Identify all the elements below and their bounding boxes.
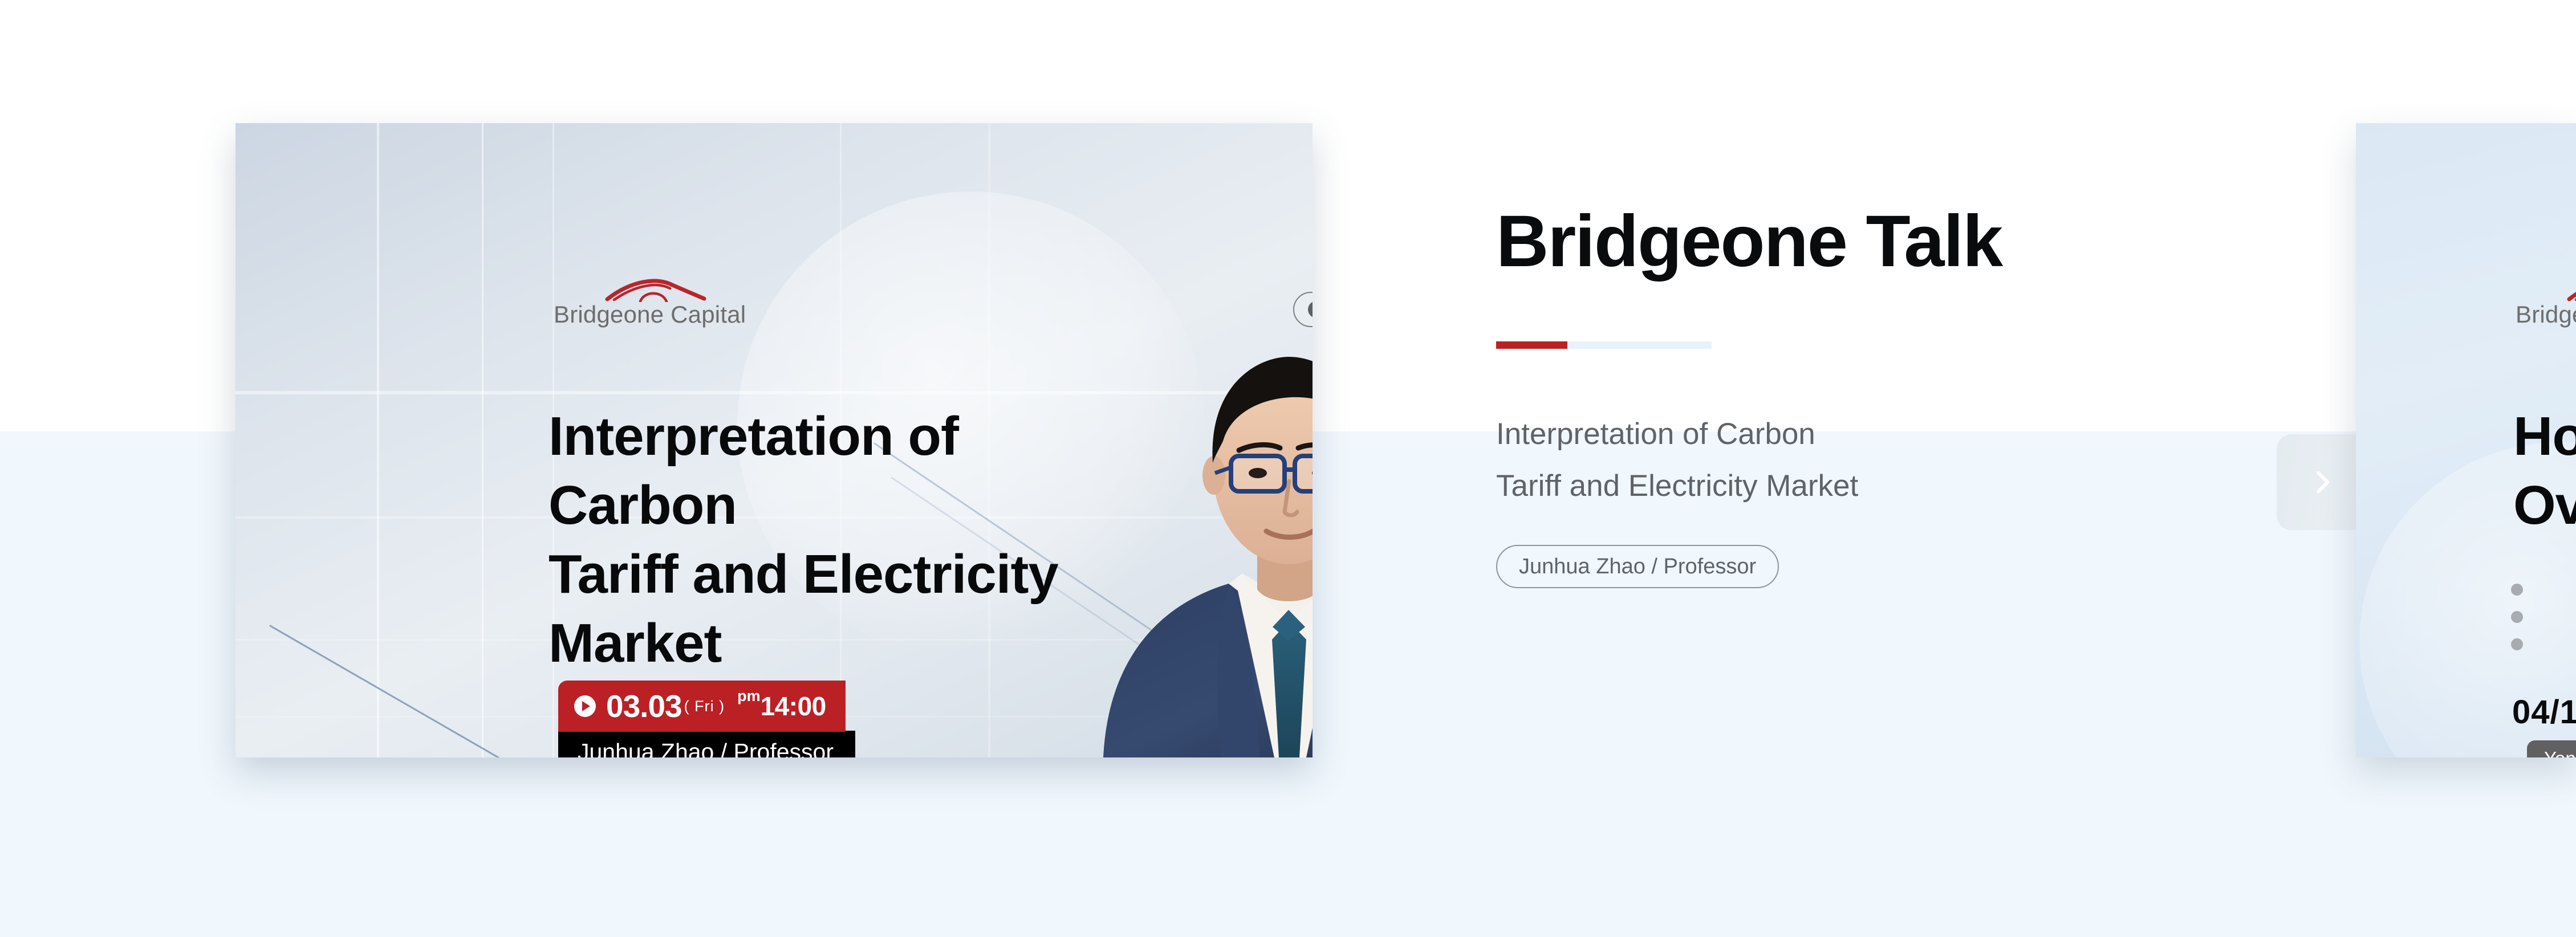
date-meridiem: pm	[737, 687, 761, 705]
next-card-speaker: Yong nian Zhe	[2527, 740, 2576, 757]
next-card-date: 04/11 (Tue	[2512, 693, 2576, 731]
speaker-portrait	[1086, 282, 1313, 757]
next-card-logo-text: Bridgeone Capital	[2516, 301, 2576, 328]
date-time: 14:00	[761, 691, 826, 722]
speaker-pill[interactable]: Junhua Zhao / Professor	[1496, 545, 1779, 588]
carousel-progress-fill	[1496, 341, 1567, 349]
featured-subtitle-line-1: Interpretation of Carbon	[1496, 408, 2066, 460]
dot	[2511, 584, 2523, 596]
carousel-progress-bar[interactable]	[1496, 341, 1712, 349]
date-day: 03.03	[606, 688, 682, 724]
play-circle-icon	[574, 695, 596, 717]
page-title: Bridgeone Talk	[1496, 205, 2237, 278]
next-card-title-line-2: Over th	[2513, 471, 2576, 540]
next-card-date-main: 04/11	[2512, 693, 2576, 731]
carousel-stage: Bridgeone Capital BridgeOne Talk Interpr…	[0, 0, 2576, 937]
carousel-next-button[interactable]	[2277, 434, 2368, 530]
card-speaker-name: Junhua Zhao / Professor	[558, 731, 855, 757]
more-vertical-icon[interactable]	[2511, 584, 2523, 666]
next-card-title-line-1: How Ch	[2513, 402, 2576, 471]
featured-poster-card[interactable]: Bridgeone Capital BridgeOne Talk Interpr…	[235, 123, 1313, 757]
chevron-right-icon	[2306, 466, 2338, 498]
next-poster-card[interactable]: Bridgeone Capital How Ch Over th 04/11 (…	[2356, 123, 2576, 757]
bridgeone-arch-logo-icon	[2565, 276, 2576, 302]
featured-info-panel: Bridgeone Talk Interpretation of Carbon …	[1496, 205, 2237, 588]
poster-title-line-1: Interpretation of Carbon	[548, 402, 1119, 540]
poster-title: Interpretation of Carbon Tariff and Elec…	[548, 402, 1119, 678]
date-speaker-ribbon: 03.03 ( Fri ) pm 14:00 Junhua Zhao / Pro…	[558, 681, 855, 757]
date-badge: 03.03 ( Fri ) pm 14:00	[558, 681, 846, 732]
featured-subtitle: Interpretation of Carbon Tariff and Elec…	[1496, 408, 2066, 512]
dot	[2511, 611, 2523, 623]
featured-subtitle-line-2: Tariff and Electricity Market	[1496, 460, 2066, 512]
card-logo: Bridgeone Capital	[554, 276, 746, 328]
bridgeone-arch-logo-icon	[603, 276, 709, 302]
date-weekday: ( Fri )	[684, 698, 725, 715]
dot	[2511, 638, 2523, 650]
poster-title-line-3: Market	[548, 609, 1119, 678]
poster-title-line-2: Tariff and Electricity	[548, 540, 1119, 609]
next-card-logo: Bridgeone Capital	[2516, 276, 2576, 328]
next-card-title: How Ch Over th	[2513, 402, 2576, 540]
card-logo-text: Bridgeone Capital	[554, 301, 746, 328]
